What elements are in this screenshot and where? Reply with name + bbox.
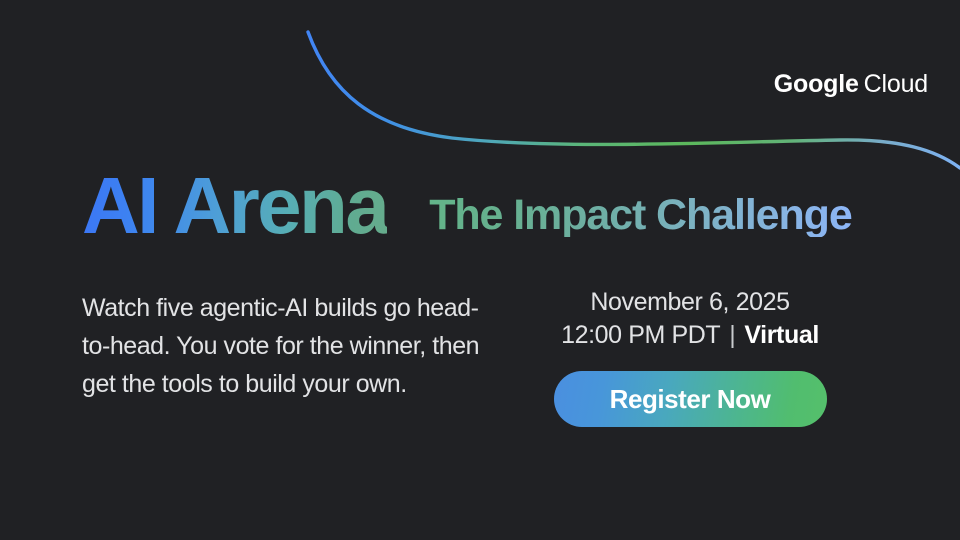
google-cloud-logo: GoogleCloud [774, 68, 928, 100]
register-now-button[interactable]: Register Now [554, 371, 827, 427]
event-date: November 6, 2025 [520, 286, 860, 319]
cta-container: Register Now [520, 371, 860, 427]
description-text: Watch five agentic-AI builds go head-to-… [82, 289, 482, 403]
event-details: November 6, 2025 12:00 PM PDT|Virtual Re… [520, 286, 860, 427]
headline-group: AI Arena The Impact Challenge [82, 166, 852, 246]
page-title: AI Arena [82, 166, 387, 246]
event-mode-badge: Virtual [744, 321, 819, 349]
event-separator: | [729, 321, 735, 349]
event-time-mode: 12:00 PM PDT|Virtual [520, 319, 860, 352]
event-time-text: 12:00 PM PDT [561, 321, 720, 349]
brand-google-text: Google [774, 70, 859, 98]
brand-cloud-text: Cloud [864, 70, 928, 98]
page-subtitle: The Impact Challenge [429, 194, 851, 237]
event-banner: GoogleCloud AI Arena The Impact Challeng… [0, 0, 960, 540]
